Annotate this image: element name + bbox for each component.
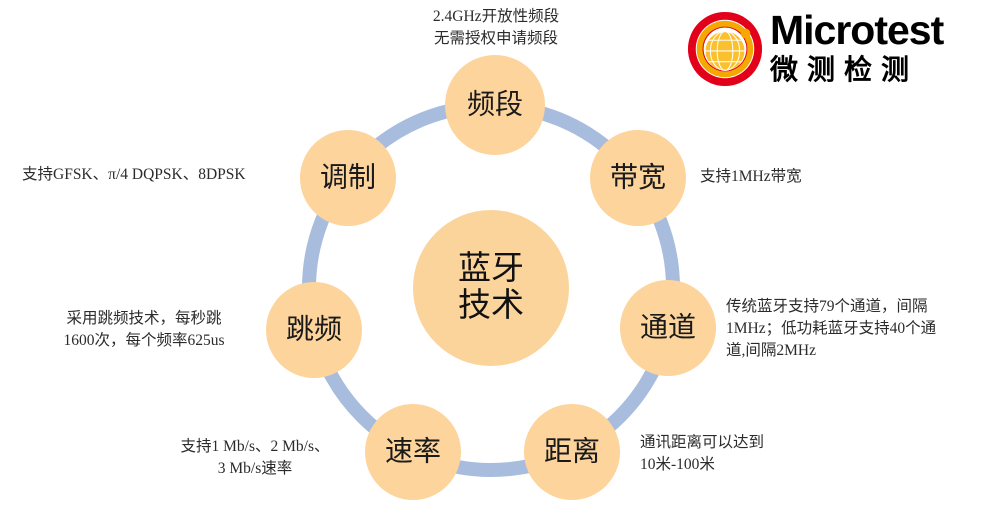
node-circle-channel[interactable] [620,280,716,376]
desc-distance: 通讯距离可以达到 10米-100米 [640,432,880,476]
node-circle-band[interactable] [445,55,545,155]
desc-channel-line3: 道,间隔2MHz [726,340,988,362]
center-label-line1: 蓝牙 [458,251,524,288]
desc-channel: 传统蓝牙支持79个通道，间隔 1MHz；低功耗蓝牙支持40个通 道,间隔2MHz [726,296,988,362]
node-circle-bandwidth[interactable] [590,130,686,226]
brand-name: Microtest [770,8,982,52]
node-circle-rate[interactable] [365,404,461,500]
node-circle-modulation[interactable] [300,130,396,226]
desc-hopping: 采用跳频技术，每秒跳 1600次，每个频率625us [32,308,256,352]
center-label-line2: 技术 [458,288,524,325]
desc-hopping-line1: 采用跳频技术，每秒跳 [32,308,256,330]
desc-modulation: 支持GFSK、π/4 DQPSK、8DPSK [22,164,308,186]
desc-band: 2.4GHz开放性频段 无需授权申请频段 [378,6,614,50]
node-circle-hopping[interactable] [266,282,362,378]
brand-name-cn: 微测检测 [770,54,982,86]
desc-rate: 支持1 Mb/s、2 Mb/s、 3 Mb/s速率 [140,436,370,480]
desc-rate-line1: 支持1 Mb/s、2 Mb/s、 [140,436,370,458]
desc-channel-line2: 1MHz；低功耗蓝牙支持40个通 [726,318,988,340]
brand-logo-text: Microtest 微测检测 [770,8,982,88]
diagram-canvas: 蓝牙 技术 频段 带宽 通道 距离 速率 跳频 调制 2.4GHz开放性频段 无… [0,0,990,516]
desc-band-line2: 无需授权申请频段 [378,28,614,50]
desc-modulation-line1: 支持GFSK、π/4 DQPSK、8DPSK [22,164,308,186]
desc-bandwidth-line1: 支持1MHz带宽 [700,166,930,188]
desc-rate-line2: 3 Mb/s速率 [140,458,370,480]
desc-bandwidth: 支持1MHz带宽 [700,166,930,188]
center-label: 蓝牙 技术 [458,251,524,325]
desc-channel-line1: 传统蓝牙支持79个通道，间隔 [726,296,988,318]
brand-logo: Microtest 微测检测 [686,6,982,90]
desc-band-line1: 2.4GHz开放性频段 [378,6,614,28]
desc-hopping-line2: 1600次，每个频率625us [32,330,256,352]
node-circle-distance[interactable] [524,404,620,500]
desc-distance-line2: 10米-100米 [640,454,880,476]
globe-ring-icon [686,10,764,88]
desc-distance-line1: 通讯距离可以达到 [640,432,880,454]
